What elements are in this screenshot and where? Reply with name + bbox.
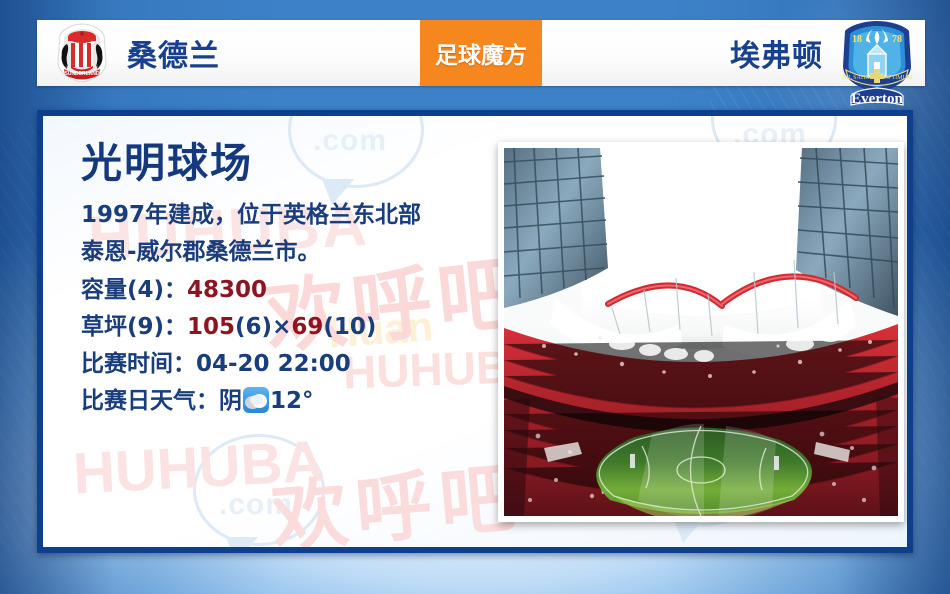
stadium-info-card: .com .com .com HUHUBA Huan HUHUBA HUHUBA… <box>37 110 913 553</box>
card-inner-surface: .com .com .com HUHUBA Huan HUHUBA HUHUBA… <box>43 116 907 547</box>
pitch-width-rank: (10) <box>323 314 376 340</box>
everton-fc-crest: 18 78 NIL SATIS NISI OPTIMUM Everton <box>835 18 919 110</box>
home-team-name: 桑德兰 <box>127 31 220 75</box>
kickoff-value: 04-20 22:00 <box>196 351 351 377</box>
weather-temperature: 12° <box>270 388 314 414</box>
stadium-title: 光明球场 <box>81 142 501 185</box>
pitch-label: 草坪(9)： <box>81 314 187 340</box>
site-brand-text: 足球魔方 <box>435 36 527 70</box>
svg-text:Everton: Everton <box>851 91 903 107</box>
pitch-row: 草坪(9)：105(6)×69(10) <box>81 309 501 346</box>
weather-row: 比赛日天气：阴12° <box>81 383 501 420</box>
cloudy-icon <box>243 387 269 413</box>
svg-text:SUNDERLAND: SUNDERLAND <box>65 71 100 77</box>
capacity-value: 48300 <box>187 277 267 303</box>
stadium-built-line-1: 1997年建成，位于英格兰东北部 <box>81 197 501 234</box>
watermark-latin-4: HUHUBA <box>71 427 325 507</box>
away-team-name: 埃弗顿 <box>730 31 823 75</box>
kickoff-label: 比赛时间： <box>81 351 196 377</box>
pitch-width: 69 <box>291 314 323 340</box>
stadium-info-column: 光明球场 1997年建成，位于英格兰东北部 泰恩-威尔郡桑德兰市。 容量(4)：… <box>81 142 501 421</box>
kickoff-row: 比赛时间：04-20 22:00 <box>81 346 501 383</box>
home-team-block[interactable]: SUNDERLAND 桑德兰 <box>51 20 220 86</box>
weather-label: 比赛日天气： <box>81 388 219 414</box>
site-brand-logo[interactable]: 足球魔方 <box>420 20 542 86</box>
capacity-row: 容量(4)：48300 <box>81 272 501 309</box>
svg-text:18: 18 <box>852 34 862 45</box>
stadium-photo-frame[interactable] <box>498 142 904 522</box>
capacity-label: 容量(4)： <box>81 277 187 303</box>
pitch-length: 105 <box>187 314 235 340</box>
pitch-times-symbol: × <box>272 314 291 340</box>
watermark-bubble-bottom <box>193 434 325 546</box>
app-background: SUNDERLAND 桑德兰 足球魔方 埃弗顿 18 78 NI <box>0 0 950 594</box>
weather-condition: 阴 <box>219 388 242 414</box>
away-team-block[interactable]: 埃弗顿 18 78 NIL SATIS NISI OPTIMUM Everton <box>730 20 919 86</box>
watermark-dotcom-3: .com <box>219 488 293 522</box>
match-header-bar: SUNDERLAND 桑德兰 足球魔方 埃弗顿 18 78 NI <box>37 20 925 86</box>
watermark-brand-cn-bottom: 欢呼吧 <box>267 435 528 547</box>
svg-text:78: 78 <box>892 34 902 45</box>
sunderland-afc-crest: SUNDERLAND <box>51 22 113 84</box>
stadium-interior-photo <box>504 148 898 516</box>
pitch-length-rank: (6) <box>235 314 272 340</box>
stadium-built-line-2: 泰恩-威尔郡桑德兰市。 <box>81 234 501 271</box>
